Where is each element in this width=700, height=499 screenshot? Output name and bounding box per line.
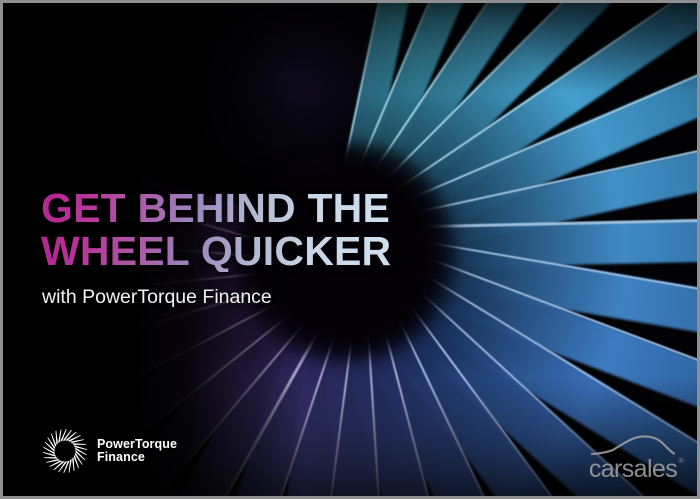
powertorque-logo-line-2: Finance xyxy=(97,450,145,464)
carsales-wordmark: carsales ® xyxy=(589,457,677,482)
carsales-logo: carsales ® xyxy=(585,434,681,482)
car-silhouette-icon xyxy=(590,434,676,456)
turbine-ring-icon xyxy=(41,427,89,475)
powertorque-logo-text: PowerTorque Finance xyxy=(97,438,177,465)
headline-line-2: WHEEL QUICKER xyxy=(41,231,391,272)
promo-banner: GET BEHIND THE WHEEL QUICKER with PowerT… xyxy=(0,0,700,499)
carsales-wordmark-text: carsales xyxy=(589,455,677,483)
powertorque-finance-logo: PowerTorque Finance xyxy=(41,427,177,475)
subheadline: with PowerTorque Finance xyxy=(42,286,391,308)
headline-block: GET BEHIND THE WHEEL QUICKER with PowerT… xyxy=(41,188,391,308)
headline-line-1: GET BEHIND THE xyxy=(41,188,391,229)
trademark-symbol: ® xyxy=(679,458,684,465)
powertorque-logo-line-1: PowerTorque xyxy=(97,437,177,451)
